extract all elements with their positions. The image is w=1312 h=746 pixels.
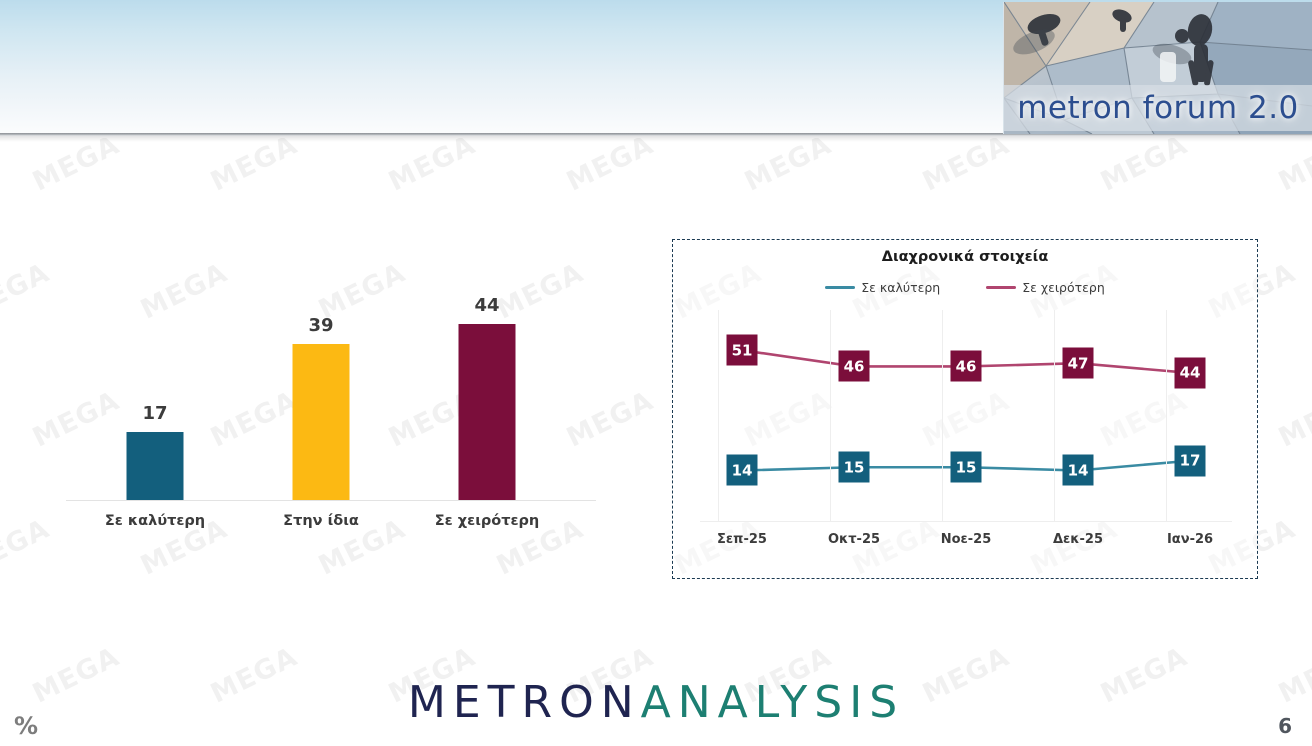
- plot-baseline: [700, 521, 1232, 522]
- trend-chart-panel: Διαχρονικά στοιχεία Σε καλύτερηΣε χειρότ…: [672, 239, 1258, 579]
- bar-category-label: Σε καλύτερη: [105, 513, 205, 529]
- x-axis-tick-label: Νοε-25: [941, 532, 992, 547]
- legend-item: Σε καλύτερη: [825, 280, 940, 295]
- logo-text: metron forum 2.0: [1017, 90, 1299, 126]
- bar-chart-baseline: [66, 500, 596, 501]
- gridline: [1054, 310, 1055, 522]
- x-axis-tick-label: Σεπ-25: [717, 532, 767, 547]
- x-axis-tick-label: Οκτ-25: [828, 532, 880, 547]
- legend-item: Σε χειρότερη: [986, 280, 1105, 295]
- watermark-text: MEGA: [0, 513, 54, 581]
- trend-chart-title: Διαχρονικά στοιχεία: [673, 249, 1257, 265]
- bar: [293, 344, 350, 500]
- bar-value-label: 44: [474, 295, 499, 316]
- data-point-label: 15: [839, 452, 870, 483]
- bar-chart: 17Σε καλύτερη39Στην ίδια44Σε χειρότερη: [48, 300, 614, 545]
- logo-caption-bar: metron forum 2.0: [1004, 85, 1312, 131]
- legend-label: Σε καλύτερη: [861, 280, 940, 295]
- data-point-label: 46: [951, 351, 982, 382]
- slide: MEGAMEGAMEGAMEGAMEGAMEGAMEGAMEGAMEGAMEGA…: [0, 0, 1312, 746]
- gridline: [830, 310, 831, 522]
- bar-group: 44Σε χειρότερη: [404, 300, 570, 500]
- watermark-text: MEGA: [1274, 385, 1312, 453]
- brand-analysis: ANALYSIS: [641, 677, 905, 728]
- gridline: [942, 310, 943, 522]
- bar-group: 17Σε καλύτερη: [72, 300, 238, 500]
- bar-category-label: Στην ίδια: [283, 513, 359, 529]
- gridline: [1166, 310, 1167, 522]
- trend-chart-x-axis: Σεπ-25Οκτ-25Νοε-25Δεκ-25Ιαν-26: [700, 532, 1232, 554]
- trend-chart-legend: Σε καλύτερηΣε χειρότερη: [673, 280, 1257, 295]
- brand-metron: METRON: [408, 677, 641, 728]
- legend-swatch: [986, 286, 1016, 289]
- header-shadow: [0, 136, 1312, 142]
- bar-group: 39Στην ίδια: [238, 300, 404, 500]
- x-axis-tick-label: Ιαν-26: [1167, 532, 1213, 547]
- data-point-label: 44: [1175, 357, 1206, 388]
- data-point-label: 14: [727, 455, 758, 486]
- watermark-text: MEGA: [0, 257, 54, 325]
- metron-forum-logo: metron forum 2.0: [1003, 2, 1312, 134]
- legend-label: Σε χειρότερη: [1022, 280, 1105, 295]
- data-point-label: 47: [1063, 348, 1094, 379]
- page-number: 6: [1278, 714, 1292, 738]
- bar-value-label: 39: [308, 315, 333, 336]
- data-point-label: 46: [839, 351, 870, 382]
- bar: [459, 324, 516, 500]
- trend-lines: [700, 310, 1232, 522]
- bar-value-label: 17: [142, 403, 167, 424]
- percent-unit-label: %: [14, 712, 38, 740]
- data-point-label: 17: [1175, 445, 1206, 476]
- metron-analysis-logo: METRONANALYSIS: [0, 677, 1312, 728]
- data-point-label: 51: [727, 335, 758, 366]
- legend-swatch: [825, 286, 855, 289]
- x-axis-tick-label: Δεκ-25: [1053, 532, 1103, 547]
- data-point-label: 15: [951, 452, 982, 483]
- data-point-label: 14: [1063, 455, 1094, 486]
- gridline: [718, 310, 719, 522]
- trend-chart-plot: 14151514175146464744: [700, 310, 1232, 522]
- bar-category-label: Σε χειρότερη: [435, 513, 539, 529]
- bar: [127, 432, 184, 500]
